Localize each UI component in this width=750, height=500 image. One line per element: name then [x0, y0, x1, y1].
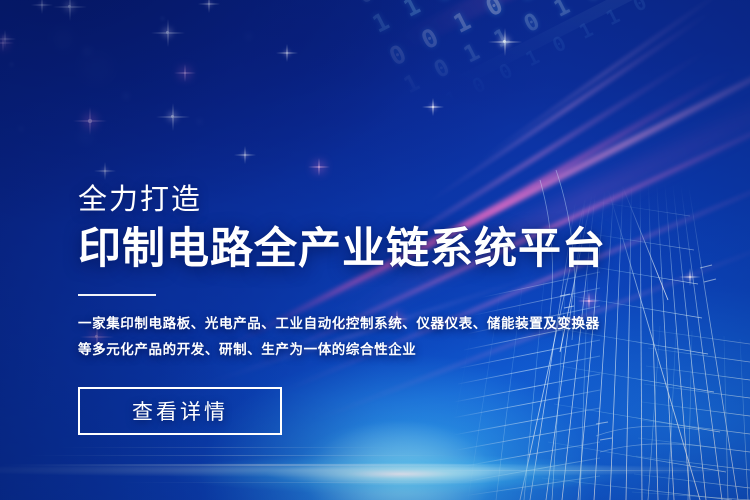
hero-eyebrow: 全力打造 [78, 186, 638, 215]
sparkle-star [41, 4, 43, 6]
sparkle-star [68, 5, 71, 8]
hero-description-line2: 等多元化产品的开发、研制、生产为一体的综合性企业 [78, 337, 638, 363]
sparkle-star [432, 106, 434, 108]
sparkle-star [104, 170, 106, 172]
binary-row: 1 1 0 1 0 0 1 0 1 1 0 1 0 0 1 0 1 1 0 1 … [368, 0, 750, 39]
hero-headline: 印制电路全产业链系统平台 [78, 228, 638, 271]
hero-content: 全力打造 印制电路全产业链系统平台 一家集印制电路板、光电产品、工业自动化控制系… [78, 186, 638, 435]
sparkle-star [184, 72, 186, 74]
view-details-button[interactable]: 查看详情 [78, 387, 282, 435]
hero-banner: 1 0 0 1 0 1 1 0 0 1 0 1 0 1 1 0 0 1 0 1 … [0, 0, 750, 500]
binary-row: 0 1 0 0 1 0 1 1 0 1 0 0 1 0 1 1 0 1 0 0 … [414, 0, 750, 126]
sparkle-star [318, 166, 320, 168]
sparkle-star [171, 115, 174, 118]
hero-description-line1: 一家集印制电路板、光电产品、工业自动化控制系统、仪器仪表、储能装置及变换器 [78, 311, 638, 337]
hero-divider [78, 294, 156, 296]
binary-row: 1 0 1 1 0 1 0 0 1 0 1 1 0 1 0 0 1 0 1 1 … [400, 0, 750, 99]
binary-row: 0 1 1 0 1 0 0 1 1 0 1 0 1 0 0 1 1 0 1 0 … [354, 0, 750, 8]
sparkle-star [208, 3, 210, 5]
sparkle-star [4, 38, 6, 40]
sparkle-star [503, 40, 506, 43]
sparkle-star [244, 154, 246, 156]
binary-row: 0 0 1 0 1 1 0 1 0 0 1 0 1 1 0 1 0 0 1 0 … [384, 0, 750, 72]
sparkle-star [286, 52, 288, 54]
sparkle-star [166, 31, 169, 34]
sparkle-star [689, 276, 691, 278]
hero-description: 一家集印制电路板、光电产品、工业自动化控制系统、仪器仪表、储能装置及变换器 等多… [78, 311, 638, 363]
sparkle-star [88, 119, 92, 123]
sparkle-star [2, 42, 4, 44]
